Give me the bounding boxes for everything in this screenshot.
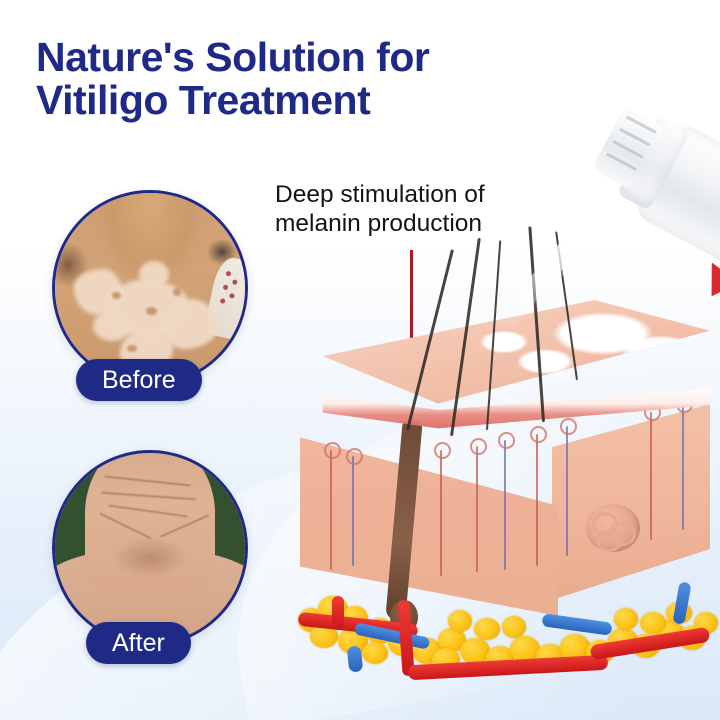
annotation-text: Deep stimulation of melanin production [275,180,545,239]
advertisement-canvas: Nature's Solution for Vitiligo Treatment… [0,0,720,720]
before-badge-label: Before [102,366,176,395]
pigment-spot [112,292,121,299]
bottle-label-accent [698,262,720,304]
skin-cross-section-diagram [290,300,720,700]
after-badge-label: After [112,629,165,658]
dermis-right-face [552,404,710,600]
before-photo [52,190,248,386]
before-photo-image [55,193,245,383]
artery-branch [332,596,344,630]
page-title: Nature's Solution for Vitiligo Treatment [36,36,596,123]
vitiligo-patch [93,311,131,341]
after-photo-image [55,453,245,643]
after-neck-shadow [112,537,188,579]
pigment-spot [173,288,181,296]
vein-branch [347,645,364,672]
after-photo [52,450,248,646]
before-badge: Before [76,359,202,401]
vitiligo-patch [139,261,169,288]
after-badge: After [86,622,191,664]
